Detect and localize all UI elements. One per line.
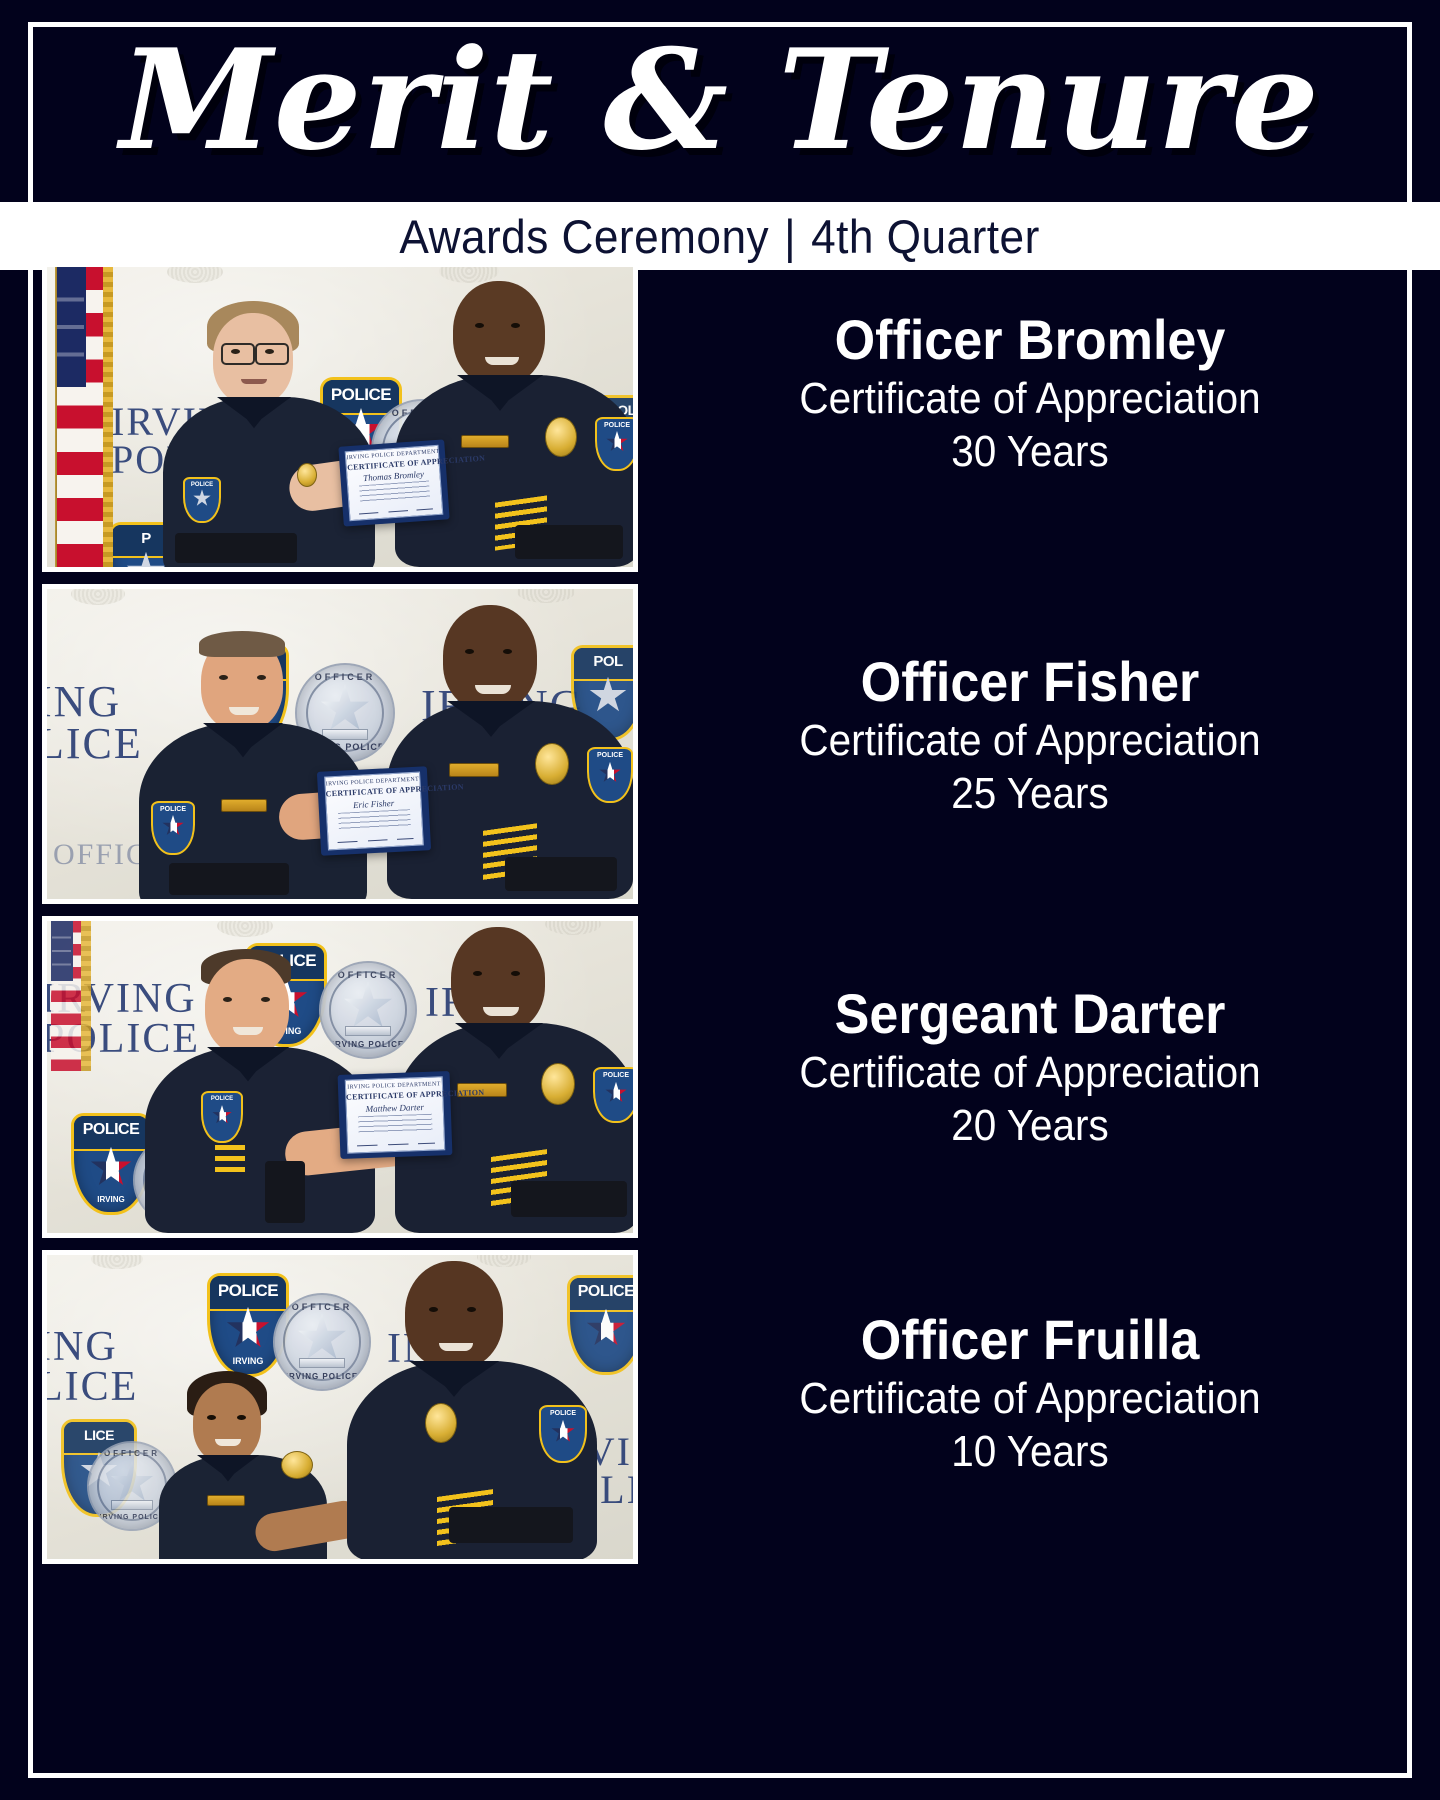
police-shoulder-patch: POLICE [587,747,633,803]
police-shoulder-patch: POLICE [539,1405,587,1463]
poster-header: Merit & Tenure Awards Ceremony|4th Quart… [0,22,1440,254]
certificate: IRVING POLICE DEPARTMENT CERTIFICATE OF … [338,1071,453,1159]
award-recipient-name: Officer Fisher [686,652,1374,711]
award-recipient-name: Officer Bromley [686,310,1374,369]
award-type: Certificate of Appreciation [690,373,1371,425]
award-recipient-name: Sergeant Darter [686,984,1374,1043]
award-photo-frame: INGLICE ING IRVINGPOLICE POLICE IRVING O… [42,1250,638,1564]
award-years: 25 Years [690,767,1371,821]
police-shoulder-patch: POLICE [595,417,633,471]
police-chief: POLICE [387,605,633,899]
subtitle-separator: | [769,209,811,264]
ceremony-photo: IRVINGPOLICE IRVINGPOL IRVING POLICE IRV… [47,267,633,567]
police-shoulder-patch: POLICE [183,477,221,523]
service-coin-icon [281,1451,313,1479]
police-chief: POLICE [395,275,633,567]
ceremony-photo: INGLICE IRVING OFFICER POLICE IRVING OFF… [47,589,633,899]
wall-wordmark: INGLICE [47,1327,138,1408]
award-type: Certificate of Appreciation [690,715,1371,767]
award-recipient [159,1371,341,1559]
subtitle-text: Awards Ceremony|4th Quarter [400,209,1040,264]
police-shoulder-patch: POLICE [593,1067,633,1123]
award-recipient: POLICE [139,631,377,899]
subtitle-left: Awards Ceremony [400,210,770,263]
police-shoulder-patch: POLICE [201,1091,243,1143]
award-years: 10 Years [690,1425,1371,1479]
award-type: Certificate of Appreciation [690,1047,1371,1099]
certificate: IRVING POLICE DEPARTMENT CERTIFICATE OF … [317,766,431,856]
police-chief: POLICE [339,1261,609,1559]
ceremony-photo: INGLICE ING IRVINGPOLICE POLICE IRVING O… [47,1255,633,1559]
poster: Merit & Tenure Awards Ceremony|4th Quart… [0,0,1440,1800]
award-years: 20 Years [690,1099,1371,1153]
award-photo-frame: IRVINGPOLICE IRVINGPOL IRVING POLICE IRV… [42,262,638,572]
award-type: Certificate of Appreciation [690,1373,1371,1425]
award-recipient-name: Officer Fruilla [686,1310,1374,1369]
award-entry: Sergeant Darter Certificate of Appreciat… [660,984,1400,1153]
us-flag-icon [55,267,113,567]
award-photo-frame: IRVINGPOLICE IRV IRVPO POLICE IRVING OFF… [42,916,638,1238]
award-recipient: POLICE [157,301,387,567]
us-flag-icon [51,921,91,1071]
subtitle-banner: Awards Ceremony|4th Quarter [0,202,1440,270]
page-title: Merit & Tenure [0,28,1440,173]
award-photo-frame: INGLICE IRVING OFFICER POLICE IRVING OFF… [42,584,638,904]
wall-wordmark: INGLICE [47,681,143,765]
certificate: IRVING POLICE DEPARTMENT CERTIFICATE OF … [338,439,449,526]
awards-list: IRVINGPOLICE IRVINGPOL IRVING POLICE IRV… [0,262,1440,1772]
award-entry: Officer Fisher Certificate of Appreciati… [660,652,1400,821]
award-years: 30 Years [690,425,1371,479]
award-entry: Officer Bromley Certificate of Appreciat… [660,310,1400,479]
award-entry: Officer Fruilla Certificate of Appreciat… [660,1310,1400,1479]
ceremony-photo: IRVINGPOLICE IRV IRVPO POLICE IRVING OFF… [47,921,633,1233]
police-shoulder-patch: POLICE [151,801,195,855]
subtitle-right: 4th Quarter [812,210,1041,263]
